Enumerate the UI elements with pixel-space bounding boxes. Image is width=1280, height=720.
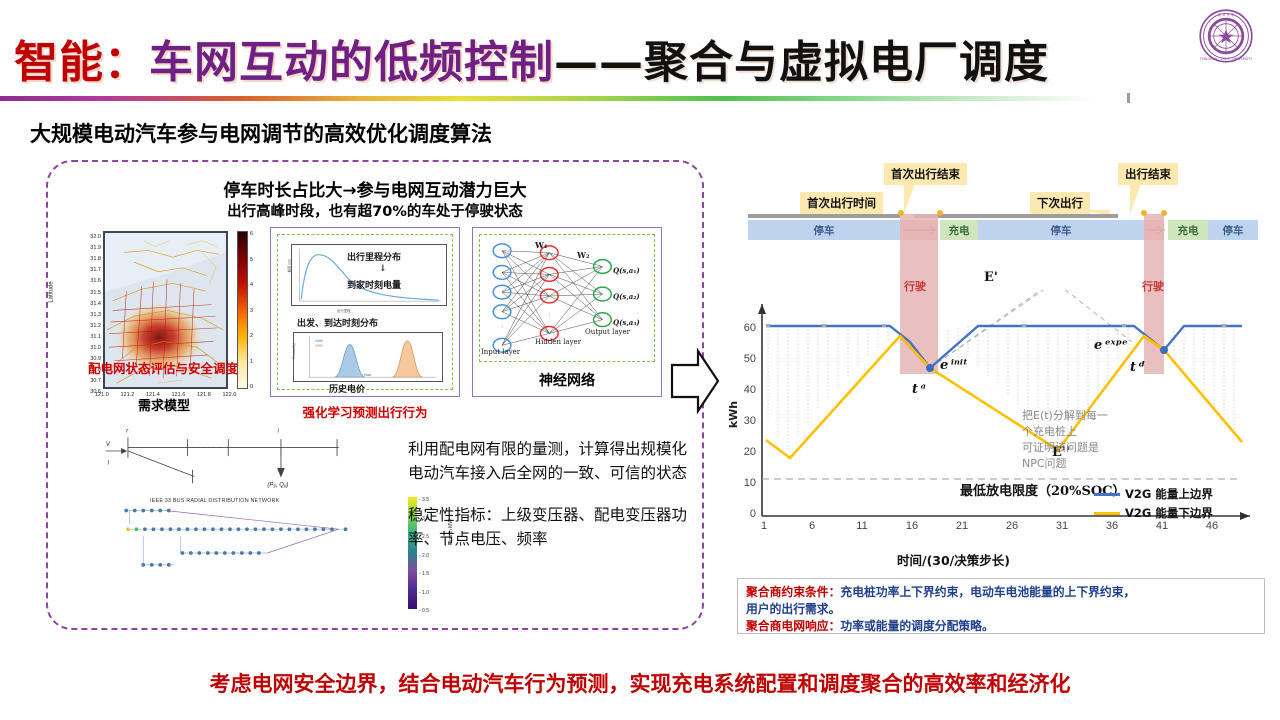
x-tick-26: 26 [1000,520,1024,532]
left-panel-headline-1: 停车时长占比大→参与电网互动潜力巨大 [48,176,702,201]
title-rule-divider [0,96,1095,101]
callout-trip-end: 出行结束 [1118,163,1178,185]
flow-colorbar-tick: - 0.5 [419,608,429,614]
constraint-line-1: 聚合商约束条件：充电桩功率上下界约束，电动车电池能量的上下界约束， [746,584,1256,601]
v2g-energy-envelope-chart: kWh 60 50 40 30 20 10 0 [722,290,1270,565]
legend-item-upper: V2G 能量上边界 [1094,486,1213,502]
callout-first-trip-end: 首次出行结束 [884,163,967,185]
title-part-purple: 车网互动的低频控制 [149,37,554,88]
constraint-line-3: 聚合商电网响应：功率或能量的调度分配策略。 [746,618,1256,635]
output-layer-label: Output layer [585,328,630,336]
map-y-tick: 31.3 [90,313,101,319]
x-tick-1: 1 [752,520,776,532]
map-y-tick: 31.6 [90,279,101,285]
callout-first-trip-start: 首次出行时间 [800,192,883,214]
legend-swatch-lower [1094,512,1120,515]
weight-w2-label: W₂ [577,250,590,260]
map-colorbar-tick: 3 [250,308,253,314]
x-tick-11: 11 [850,520,874,532]
demand-model-caption: 需求模型 [65,395,263,414]
legend-item-lower: V2G 能量下边界 [1094,505,1213,521]
npc-note-text: 把E(t)分解到每一个充电桩上可证明该问题是NPC问题 [1022,408,1108,472]
left-content-panel: 停车时长占比大→参与电网互动潜力巨大 出行高峰时段，也有超70%的车处于停驶状态… [46,160,704,630]
tsinghua-seal-icon: 清 华 大 学 TSINGHUA · 1911 · UNIVERSITY [1198,8,1254,64]
travel-distribution-box: 概率 p(d) 出行里程分布 ↓ 到家时刻电量 出行里程 出发、到达时刻分布 P… [270,227,460,397]
weight-w1-label: W₁ [535,240,548,250]
map-colorbar-tick: 6 [250,231,253,237]
historical-price-label: 历史电价 [329,382,365,395]
q-output-2-label: Q(s,a₂) [613,292,640,301]
x-tick-31: 31 [1050,520,1074,532]
legend-swatch-upper [1094,493,1120,496]
e-apex-label: E' [984,270,998,285]
svg-text:r: r [126,428,129,434]
chart-x-axis-title: 时间/(30/决策步长) [897,550,1010,569]
t-a-marker-label: t ᵃ [912,382,926,397]
constraint-line-2: 用户的出行需求。 [746,601,1256,618]
bottom-summary-text: 考虑电网安全边界，结合电动汽车行为预测，实现充电系统配置和调度聚合的高效率和经济… [0,668,1280,698]
aggregator-constraint-box: 聚合商约束条件：充电桩功率上下界约束，电动车电池能量的上下界约束， 用户的出行需… [737,578,1265,634]
flow-colorbar-tick: - 1.5 [419,571,429,577]
callout-next-trip: 下次出行 [1030,192,1090,214]
right-content-panel: 首次出行时间 首次出行结束 下次出行 出行结束 停车 充电 停车 充电 停车 行… [722,158,1270,573]
svg-text:⋮: ⋮ [500,324,504,329]
probability-y-label: Probability [292,343,296,359]
timeline-rail-right [914,214,1118,218]
timeline-segment-park-1: 停车 [748,220,900,240]
map-colorbar-tick: 5 [250,257,253,263]
map-colorbar-tick: 1 [250,359,253,365]
depart-arrive-plot: Probability Hour [293,332,443,382]
chart-legend: V2G 能量上边界 V2G 能量下边界 [1094,486,1213,524]
neural-network-caption: 神经网络 [473,370,661,390]
map-y-axis-label: Latitude [49,281,55,302]
map-y-tick: 31.8 [90,257,101,263]
bus-network-title: IEEE 33 BUS RADIAL DISTRIBUTION NETWORK [150,498,280,504]
map-y-tick: 31.0 [90,346,101,352]
svg-text:清 华 大 学: 清 华 大 学 [1218,12,1235,17]
map-colorbar-ticks: 6543210 [250,227,264,393]
bus-network-diagram: r i V I (P₁ᵢ, Q₁ᵢ) IEEE 33 BUS RADIAL DI… [66,417,416,587]
left-text-paragraph-1: 利用配电网有限的量测，计算得出规模化电动汽车接入后全网的一致、可信的状态 [408,437,688,485]
e-expe-marker-label: e ᵉˣᵖᵉ [1094,338,1128,353]
title-part-red: 智能： [14,37,149,88]
timeline-dot-4 [1161,210,1167,216]
left-panel-text-block: 利用配电网有限的量测，计算得出规模化电动汽车接入后全网的一致、可信的状态 稳定性… [408,437,688,551]
x-tick-41: 41 [1150,520,1174,532]
timeline-dot-2 [937,210,943,216]
map-y-tick: 32.0 [90,235,101,241]
map-colorbar-tick: 2 [250,333,253,339]
map-y-tick: 31.1 [90,335,101,341]
timeline-rail-left [748,214,900,218]
timeline-segment-charge-2: 充电 [1168,220,1208,240]
svg-text:TSINGHUA · 1911 · UNIVERSITY: TSINGHUA · 1911 · UNIVERSITY [1199,57,1253,61]
title-tick-mark [1127,93,1130,103]
title-part-dark: ——聚合与虚拟电厂调度 [554,37,1049,88]
neural-network-box: ⋮⋮ W₁ W₂ Q(s,a₁) Q(s,a₂) Q(s,a₃) Input l… [472,227,662,397]
e-init-marker-label: e ⁱⁿⁱᵗ [940,358,968,373]
timeline-segment-park-2: 停车 [978,220,1144,240]
hour-x-label: Hour [364,373,371,377]
legend-label-upper: V2G 能量上边界 [1125,486,1213,502]
map-y-tick: 31.2 [90,324,101,330]
svg-text:i: i [278,428,280,434]
constraint-text-1: 充电桩功率上下界约束，电动车电池能量的上下界约束， [840,585,1135,599]
flow-arrow-icon [668,345,720,417]
distribution-assessment-caption: 配电网状态评估与安全调度 [88,358,238,377]
down-arrow-icon: ↓ [379,264,387,274]
svg-text:⋮: ⋮ [547,312,551,317]
x-tick-16: 16 [900,520,924,532]
mileage-distribution-label: 出行里程分布 [347,250,401,263]
depart-arrive-distribution-label: 出发、到达时刻分布 [297,316,378,329]
map-y-tick: 31.5 [90,291,101,297]
map-colorbar-tick: 4 [250,282,253,288]
input-layer-label: Input layer [481,348,520,356]
mileage-x-label: 出行里程 [337,308,351,313]
ieee33-bus-figure: r i V I (P₁ᵢ, Q₁ᵢ) IEEE 33 BUS RADIAL DI… [66,417,416,587]
constraint-label-1: 聚合商约束条件： [746,585,840,599]
timeline-segment-charge-1: 充电 [940,220,978,240]
timeline-segment-park-3: 停车 [1208,220,1258,240]
map-y-tick: 31.9 [90,246,101,252]
map-y-tick: 31.7 [90,268,101,274]
page-title: 智能：车网互动的低频控制——聚合与虚拟电厂调度 [14,26,1049,90]
map-colorbar-tick: 0 [250,384,253,390]
constraint-text-3: 功率或能量的调度分配策略。 [840,619,993,633]
section-heading: 大规模电动汽车参与电网调节的高效优化调度算法 [30,118,492,148]
x-tick-6: 6 [800,520,824,532]
hidden-layer-label: Hidden layer [535,338,581,346]
svg-text:V: V [106,442,111,448]
map-colorbar [237,231,248,389]
constraint-label-3: 聚合商电网响应： [746,619,840,633]
q-output-1-label: Q(s,a₁) [613,266,640,275]
flow-colorbar-tick: - 1.0 [419,590,429,596]
map-y-tick: 30.7 [90,379,101,385]
timeline-dot-1 [898,210,904,216]
x-tick-46: 46 [1200,520,1224,532]
map-y-tick: 31.4 [90,302,101,308]
timeline-dot-3 [1141,210,1147,216]
home-arrival-energy-label: 到家时刻电量 [347,278,401,291]
left-panel-headline-2: 出行高峰时段，也有超70%的车处于停驶状态 [48,200,702,221]
flow-colorbar-tick: - 2.0 [419,553,429,559]
legend-label-lower: V2G 能量下边界 [1125,505,1213,521]
q-output-3-label: Q(s,a₃) [613,318,640,327]
left-text-paragraph-2: 稳定性指标：上级变压器、配电变压器功率、节点电压、频率 [408,503,688,551]
t-d-marker-label: t ᵈ [1130,360,1145,375]
svg-text:(P₁ᵢ, Q₁ᵢ): (P₁ᵢ, Q₁ᵢ) [267,483,288,489]
mileage-y-label: 概率 p(d) [286,259,291,273]
x-tick-21: 21 [950,520,974,532]
svg-text:I: I [108,461,110,467]
x-tick-36: 36 [1100,520,1124,532]
